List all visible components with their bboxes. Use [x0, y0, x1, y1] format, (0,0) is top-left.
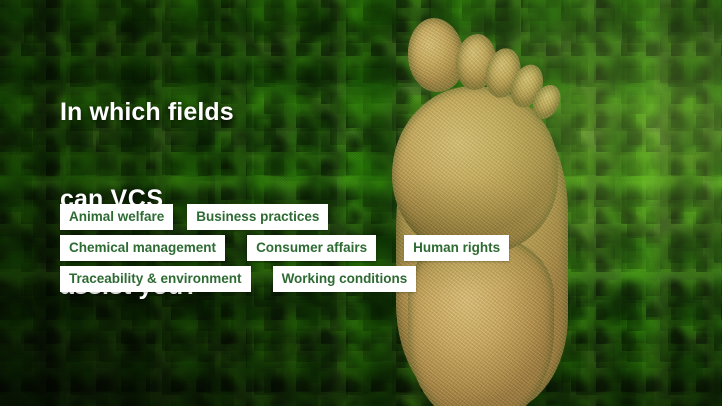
headline: In which fields can VCS assist you? — [60, 40, 234, 359]
tag-human-rights[interactable]: Human rights — [404, 235, 509, 261]
tag-working-conditions[interactable]: Working conditions — [273, 266, 417, 292]
tag-consumer-affairs[interactable]: Consumer affairs — [247, 235, 376, 261]
tag-row-1: Animal welfare Business practices — [60, 204, 620, 230]
tag-business-practices[interactable]: Business practices — [187, 204, 328, 230]
slide-canvas: In which fields can VCS assist you? Anim… — [0, 0, 722, 406]
tag-traceability-environment[interactable]: Traceability & environment — [60, 266, 251, 292]
field-tag-list: Animal welfare Business practices Chemic… — [60, 204, 620, 297]
tag-chemical-management[interactable]: Chemical management — [60, 235, 225, 261]
tag-row-3: Traceability & environment Working condi… — [60, 266, 620, 292]
tag-row-2: Chemical management Consumer affairs Hum… — [60, 235, 620, 261]
tag-animal-welfare[interactable]: Animal welfare — [60, 204, 173, 230]
headline-line-1: In which fields — [60, 98, 234, 127]
